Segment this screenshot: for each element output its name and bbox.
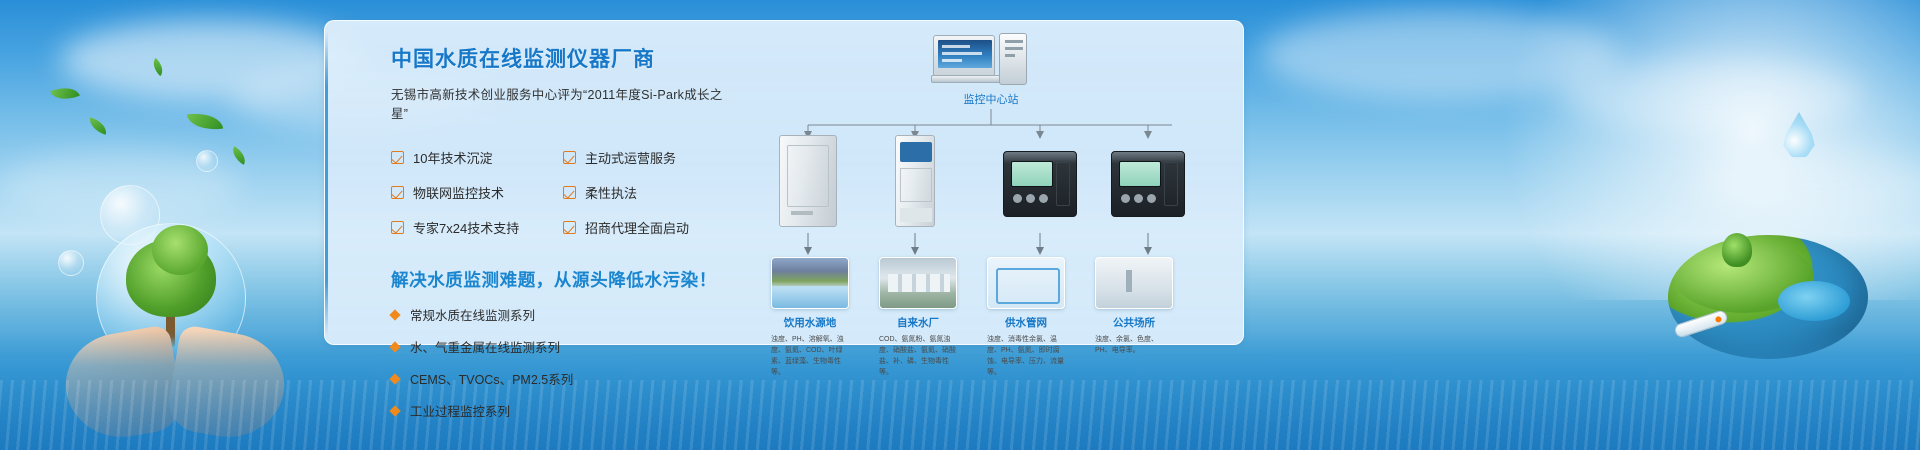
feature-label: 主动式运营服务 (585, 148, 676, 167)
device-analyzer-2[interactable] (1111, 135, 1185, 217)
leaf-icon (228, 146, 249, 165)
solution-item[interactable]: CEMS、TVOCs、PM2.5系列 (391, 369, 731, 388)
pc-tower-icon (999, 33, 1027, 85)
feature-label: 物联网监控技术 (413, 183, 504, 202)
scene-caption: 公共场所 (1095, 315, 1173, 330)
center-station-label: 监控中心站 (941, 91, 1041, 107)
checkbox-icon (391, 186, 404, 199)
feature-label: 招商代理全面启动 (585, 218, 689, 237)
solution-item[interactable]: 水、气重金属在线监测系列 (391, 337, 731, 356)
scene-description: COD、氨氮粉、氨氮浊度、硝酸盐、氨氮、硝酸盐、补、磷、生物毒性等。 (879, 335, 957, 378)
system-diagram: 监控中心站 (755, 35, 1225, 335)
feature-label: 10年技术沉淀 (413, 148, 492, 167)
scene-card[interactable]: 饮用水源地 浊度、PH、溶解氧、浊度、氨氮、COD、叶绿素、蓝绿藻、生物毒性等。 (771, 257, 849, 378)
controller-icon (1003, 151, 1077, 217)
diamond-bullet-icon (389, 405, 400, 416)
leaf-icon (50, 82, 80, 106)
solution-label: 常规水质在线监测系列 (410, 305, 535, 324)
monitor-icon (933, 35, 995, 77)
scene-description: 浊度、消毒性余氯、温度、PH、氨氮、即时腐蚀、电导率、压力、流量等。 (987, 335, 1065, 378)
checkbox-icon (391, 221, 404, 234)
leaf-icon (187, 110, 223, 134)
page-subtitle: 无锡市高新技术创业服务中心评为“2011年度Si-Park成长之星” (391, 84, 731, 122)
banner-text-column: 中国水质在线监测仪器厂商 无锡市高新技术创业服务中心评为“2011年度Si-Pa… (391, 43, 731, 433)
solution-list: 常规水质在线监测系列 水、气重金属在线监测系列 CEMS、TVOCs、PM2.5… (391, 305, 731, 420)
solution-label: 工业过程监控系列 (410, 401, 510, 420)
pipe-network-photo (987, 257, 1065, 309)
feature-item[interactable]: 招商代理全面启动 (563, 218, 735, 237)
solution-item[interactable]: 常规水质在线监测系列 (391, 305, 731, 324)
checkbox-icon (391, 151, 404, 164)
water-surface (0, 330, 1920, 450)
solution-label: 水、气重金属在线监测系列 (410, 337, 560, 356)
tree-icon (1722, 233, 1752, 267)
diamond-bullet-icon (389, 309, 400, 320)
feature-item[interactable]: 柔性执法 (563, 183, 735, 202)
scene-caption: 自来水厂 (879, 315, 957, 330)
analyzer-rack-icon (895, 135, 935, 227)
computer-workstation-icon (933, 35, 1043, 87)
feature-label: 柔性执法 (585, 183, 637, 202)
banner-panel: 中国水质在线监测仪器厂商 无锡市高新技术创业服务中心评为“2011年度Si-Pa… (324, 20, 1244, 345)
feature-item[interactable]: 专家7x24技术支持 (391, 218, 563, 237)
solution-item[interactable]: 工业过程监控系列 (391, 401, 731, 420)
cloud-decoration (1560, 60, 1860, 130)
solution-label: CEMS、TVOCs、PM2.5系列 (410, 369, 573, 388)
cloud-decoration (1700, 150, 1920, 220)
tap-water-photo (1095, 257, 1173, 309)
scene-card[interactable]: 供水管网 浊度、消毒性余氯、温度、PH、氨氮、即时腐蚀、电导率、压力、流量等。 (987, 257, 1065, 378)
diamond-bullet-icon (389, 373, 400, 384)
scene-card[interactable]: 公共场所 浊度、余氯、色度、PH、电导率。 (1095, 257, 1173, 357)
checkbox-icon (563, 186, 576, 199)
device-analyzer-1[interactable] (1003, 135, 1077, 217)
page-title: 中国水质在线监测仪器厂商 (391, 43, 731, 73)
device-cabinet-2[interactable] (895, 135, 935, 227)
checkbox-icon (563, 151, 576, 164)
tree-crown-icon (152, 225, 208, 275)
scene-caption: 饮用水源地 (771, 315, 849, 330)
bubble-decoration (196, 150, 218, 172)
scene-caption: 供水管网 (987, 315, 1065, 330)
checkbox-icon (563, 221, 576, 234)
controller-icon (1111, 151, 1185, 217)
scene-card[interactable]: 自来水厂 COD、氨氮粉、氨氮浊度、硝酸盐、氨氮、硝酸盐、补、磷、生物毒性等。 (879, 257, 957, 378)
scene-description: 浊度、余氯、色度、PH、电导率。 (1095, 335, 1173, 357)
diamond-bullet-icon (389, 341, 400, 352)
feature-item[interactable]: 物联网监控技术 (391, 183, 563, 202)
feature-item[interactable]: 10年技术沉淀 (391, 148, 563, 167)
feature-item[interactable]: 主动式运营服务 (563, 148, 735, 167)
leaf-icon (87, 117, 110, 135)
water-cabinet-icon (779, 135, 837, 227)
scene-description: 浊度、PH、溶解氧、浊度、氨氮、COD、叶绿素、蓝绿藻、生物毒性等。 (771, 335, 849, 378)
device-row (755, 135, 1225, 231)
monitor-screen (938, 40, 992, 68)
solution-heading: 解决水质监测难题，从源头降低水污染！ (391, 267, 731, 292)
water-plant-photo (879, 257, 957, 309)
river-source-photo (771, 257, 849, 309)
feature-list: 10年技术沉淀 主动式运营服务 物联网监控技术 柔性执法 专家7x24技术支持 … (391, 148, 731, 237)
device-cabinet-1[interactable] (779, 135, 837, 227)
keyboard-icon (931, 75, 1001, 83)
feature-label: 专家7x24技术支持 (413, 218, 519, 237)
